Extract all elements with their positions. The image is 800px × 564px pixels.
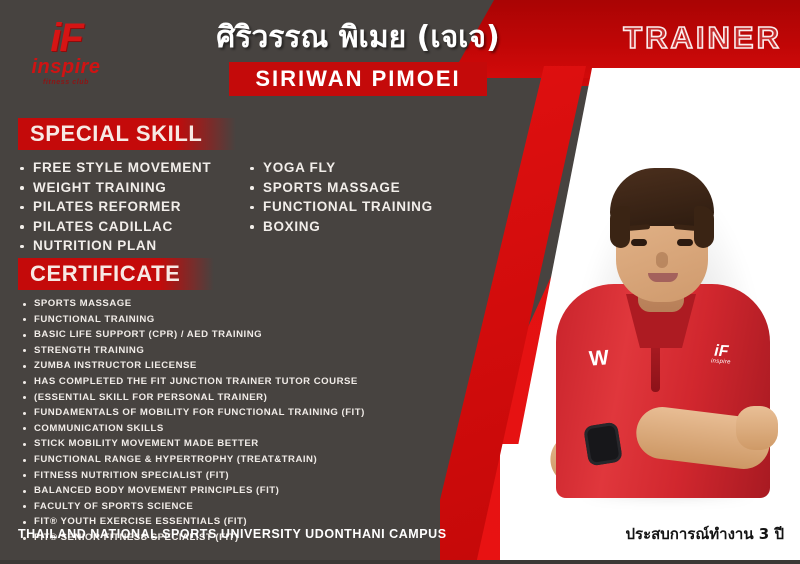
eye-right xyxy=(677,239,693,246)
list-item: BALANCED BODY MOVEMENT PRINCIPLES (FIT) xyxy=(18,483,468,499)
list-item: BOXING xyxy=(248,217,433,237)
list-item: FUNDAMENTALS OF MOBILITY FOR FUNCTIONAL … xyxy=(18,405,468,421)
list-item: BASIC LIFE SUPPORT (CPR) / AED TRAINING xyxy=(18,327,468,343)
role-banner-label: TRAINER xyxy=(623,20,782,56)
name-block: ศิริวรรณ พิเมย (เจเจ) SIRIWAN PIMOEI xyxy=(168,18,548,96)
special-skill-list-left: FREE STYLE MOVEMENT WEIGHT TRAINING PILA… xyxy=(18,158,230,256)
trainer-name-english-banner: SIRIWAN PIMOEI xyxy=(229,62,486,96)
list-item: PILATES REFORMER xyxy=(18,197,230,217)
certificate-heading: CERTIFICATE xyxy=(18,258,214,290)
shirt-logo-right-word: inspire xyxy=(698,358,744,367)
nose xyxy=(656,252,668,268)
list-item: (ESSENTIAL SKILL FOR PERSONAL TRAINER) xyxy=(18,390,468,406)
hair-side-right xyxy=(694,206,714,248)
list-item: FUNCTIONAL RANGE & HYPERTROPHY (TREAT&TR… xyxy=(18,452,468,468)
list-item: NUTRITION PLAN xyxy=(18,236,230,256)
shirt-logo-right-icon: iF inspire xyxy=(697,343,745,375)
special-skill-heading: SPECIAL SKILL xyxy=(18,118,236,150)
special-skill-list-right: YOGA FLY SPORTS MASSAGE FUNCTIONAL TRAIN… xyxy=(248,158,433,256)
list-item: SPORTS MASSAGE xyxy=(248,178,433,198)
hand xyxy=(736,406,778,450)
list-item: PILATES CADILLAC xyxy=(18,217,230,237)
university-footer: THAILAND NATIONAL SPORTS UNIVERSITY UDON… xyxy=(18,526,447,542)
brand-logo: iF inspire fitness club xyxy=(18,18,114,100)
list-item: STRENGTH TRAINING xyxy=(18,343,468,359)
brand-logo-subtitle: fitness club xyxy=(18,78,114,87)
shirt-logo-left-icon: W xyxy=(583,347,614,371)
certificate-list: SPORTS MASSAGE FUNCTIONAL TRAINING BASIC… xyxy=(18,296,468,546)
certificate-section: CERTIFICATE SPORTS MASSAGE FUNCTIONAL TR… xyxy=(18,258,468,546)
brand-logo-word: inspire xyxy=(18,56,114,78)
list-item: FREE STYLE MOVEMENT xyxy=(18,158,230,178)
brand-logo-mark: iF xyxy=(18,18,114,58)
list-item: WEIGHT TRAINING xyxy=(18,178,230,198)
list-item: SPORTS MASSAGE xyxy=(18,296,468,312)
list-item: STICK MOBILITY MOVEMENT MADE BETTER xyxy=(18,436,468,452)
trainer-photo: W iF inspire xyxy=(550,78,780,498)
trainer-profile-card: W iF inspire TRAINER iF inspire fitness … xyxy=(0,0,800,564)
list-item: HAS COMPLETED THE FIT JUNCTION TRAINER T… xyxy=(18,374,468,390)
eye-left xyxy=(631,239,647,246)
bottom-divider xyxy=(0,560,800,564)
list-item: YOGA FLY xyxy=(248,158,433,178)
experience-label: ประสบการณ์ทำงาน 3 ปี xyxy=(625,524,784,544)
list-item: ZUMBA INSTRUCTOR LIECENSE xyxy=(18,358,468,374)
list-item: FUNCTIONAL TRAINING xyxy=(18,312,468,328)
trainer-name-thai: ศิริวรรณ พิเมย (เจเจ) xyxy=(168,18,548,58)
list-item: FITNESS NUTRITION SPECIALIST (FIT) xyxy=(18,468,468,484)
special-skill-section: SPECIAL SKILL FREE STYLE MOVEMENT WEIGHT… xyxy=(18,118,458,256)
special-skill-columns: FREE STYLE MOVEMENT WEIGHT TRAINING PILA… xyxy=(18,158,458,256)
trainer-name-english: SIRIWAN PIMOEI xyxy=(255,67,460,91)
wrist-watch xyxy=(583,422,623,467)
list-item: FUNCTIONAL TRAINING xyxy=(248,197,433,217)
list-item: FACULTY OF SPORTS SCIENCE xyxy=(18,499,468,515)
list-item: COMMUNICATION SKILLS xyxy=(18,421,468,437)
mouth xyxy=(648,273,678,282)
